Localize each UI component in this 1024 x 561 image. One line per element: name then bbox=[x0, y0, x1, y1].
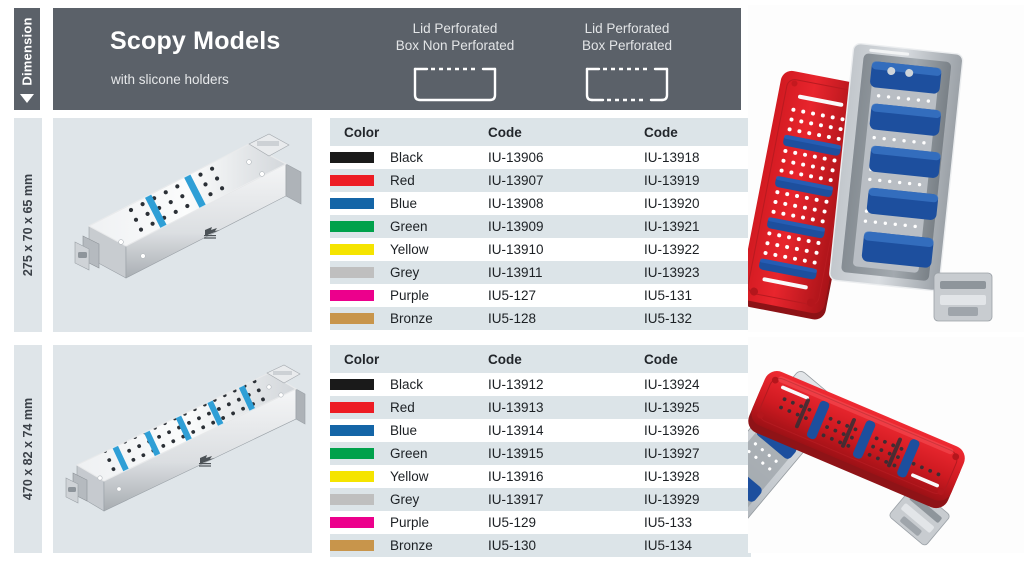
table-row[interactable]: Purple IU5-129 IU5-133 bbox=[330, 511, 751, 534]
cell-code-2: IU-13922 bbox=[644, 238, 751, 261]
table-row[interactable]: Bronze IU5-128 IU5-132 bbox=[330, 307, 751, 330]
cell-color: Bronze bbox=[330, 307, 488, 330]
cell-color: Yellow bbox=[330, 465, 488, 488]
color-swatch-black bbox=[330, 379, 374, 390]
table-row[interactable]: Blue IU-13908 IU-13920 bbox=[330, 192, 751, 215]
cell-color: Purple bbox=[330, 284, 488, 307]
color-name: Black bbox=[390, 377, 423, 392]
header-bar: Scopy Models with slicone holders Lid Pe… bbox=[53, 8, 741, 110]
table-row[interactable]: Green IU-13915 IU-13927 bbox=[330, 442, 751, 465]
color-swatch-bronze bbox=[330, 313, 374, 324]
color-name: Grey bbox=[390, 265, 419, 280]
table-row[interactable]: Blue IU-13914 IU-13926 bbox=[330, 419, 751, 442]
color-name: Green bbox=[390, 446, 428, 461]
scopy-large-container-illustration bbox=[53, 345, 312, 553]
header-column-2-line-2: Box Perforated bbox=[547, 37, 707, 54]
triangle-down-icon bbox=[20, 94, 34, 103]
color-name: Bronze bbox=[390, 538, 433, 553]
cell-code-1: IU-13911 bbox=[488, 261, 644, 284]
product-photo-right-top bbox=[748, 5, 1024, 332]
cell-code-2: IU-13925 bbox=[644, 396, 751, 419]
color-name: Grey bbox=[390, 492, 419, 507]
color-name: Blue bbox=[390, 196, 417, 211]
cell-code-2: IU-13919 bbox=[644, 169, 751, 192]
dimension-label-row-2-text: 470 x 82 x 74 mm bbox=[21, 398, 35, 500]
cell-color: Yellow bbox=[330, 238, 488, 261]
cell-code-1: IU5-130 bbox=[488, 534, 644, 557]
color-swatch-green bbox=[330, 221, 374, 232]
cell-code-1: IU-13907 bbox=[488, 169, 644, 192]
cell-code-2: IU-13918 bbox=[644, 146, 751, 169]
color-swatch-bronze bbox=[330, 540, 374, 551]
color-name: Yellow bbox=[390, 242, 429, 257]
red-lid-on-container-illustration bbox=[748, 337, 1024, 553]
color-name: Green bbox=[390, 219, 428, 234]
red-lid-and-grey-box-illustration bbox=[748, 5, 1024, 332]
dimension-tab[interactable]: Dimension bbox=[14, 8, 40, 110]
header-column-1-line-2: Box Non Perforated bbox=[375, 37, 535, 54]
table-row[interactable]: Red IU-13907 IU-13919 bbox=[330, 169, 751, 192]
color-swatch-yellow bbox=[330, 244, 374, 255]
cell-code-2: IU5-134 bbox=[644, 534, 751, 557]
header-column-lid-perforated-box-perforated: Lid Perforated Box Perforated bbox=[547, 20, 707, 103]
color-name: Blue bbox=[390, 423, 417, 438]
cell-code-2: IU5-133 bbox=[644, 511, 751, 534]
cell-code-2: IU-13920 bbox=[644, 192, 751, 215]
cell-code-2: IU-13928 bbox=[644, 465, 751, 488]
catalog-page: Dimension Scopy Models with slicone hold… bbox=[0, 0, 1024, 561]
cell-code-1: IU5-128 bbox=[488, 307, 644, 330]
color-name: Red bbox=[390, 173, 415, 188]
product-photo-row-1 bbox=[53, 118, 312, 332]
cell-code-2: IU-13926 bbox=[644, 419, 751, 442]
table-row[interactable]: Black IU-13906 IU-13918 bbox=[330, 146, 751, 169]
cell-code-2: IU-13927 bbox=[644, 442, 751, 465]
color-name: Purple bbox=[390, 515, 429, 530]
cell-code-2: IU5-131 bbox=[644, 284, 751, 307]
page-title: Scopy Models bbox=[110, 27, 281, 56]
color-name: Purple bbox=[390, 288, 429, 303]
table-row[interactable]: Red IU-13913 IU-13925 bbox=[330, 396, 751, 419]
header-column-1-line-1: Lid Perforated bbox=[375, 20, 535, 37]
cell-code-1: IU-13906 bbox=[488, 146, 644, 169]
scopy-small-container-illustration bbox=[53, 118, 312, 332]
box-lid-and-box-perforated-icon bbox=[581, 63, 673, 103]
table-header-row: Color Code Code bbox=[330, 118, 751, 146]
color-swatch-purple bbox=[330, 517, 374, 528]
table-row[interactable]: Yellow IU-13916 IU-13928 bbox=[330, 465, 751, 488]
cell-code-2: IU-13923 bbox=[644, 261, 751, 284]
cell-code-1: IU-13916 bbox=[488, 465, 644, 488]
page-subtitle: with slicone holders bbox=[111, 72, 229, 87]
dimension-label-row-2: 470 x 82 x 74 mm bbox=[14, 345, 42, 553]
code-table-row-2: Color Code Code Black IU-13912 IU-13924 bbox=[330, 345, 751, 557]
cell-color: Purple bbox=[330, 511, 488, 534]
cell-color: Green bbox=[330, 442, 488, 465]
cell-color: Black bbox=[330, 146, 488, 169]
color-swatch-yellow bbox=[330, 471, 374, 482]
cell-color: Blue bbox=[330, 192, 488, 215]
table-row[interactable]: Yellow IU-13910 IU-13922 bbox=[330, 238, 751, 261]
cell-code-1: IU-13910 bbox=[488, 238, 644, 261]
table-row[interactable]: Green IU-13909 IU-13921 bbox=[330, 215, 751, 238]
cell-color: Red bbox=[330, 169, 488, 192]
dimension-tab-label: Dimension bbox=[20, 17, 35, 85]
cell-code-1: IU-13909 bbox=[488, 215, 644, 238]
cell-color: Blue bbox=[330, 419, 488, 442]
cell-code-2: IU-13921 bbox=[644, 215, 751, 238]
color-swatch-green bbox=[330, 448, 374, 459]
color-swatch-red bbox=[330, 402, 374, 413]
color-swatch-grey bbox=[330, 267, 374, 278]
cell-code-2: IU-13929 bbox=[644, 488, 751, 511]
table-row[interactable]: Grey IU-13917 IU-13929 bbox=[330, 488, 751, 511]
table-row[interactable]: Grey IU-13911 IU-13923 bbox=[330, 261, 751, 284]
cell-color: Red bbox=[330, 396, 488, 419]
color-swatch-purple bbox=[330, 290, 374, 301]
column-header-code-1: Code bbox=[488, 345, 644, 373]
color-swatch-red bbox=[330, 175, 374, 186]
cell-code-2: IU5-132 bbox=[644, 307, 751, 330]
product-photo-row-2 bbox=[53, 345, 312, 553]
cell-color: Grey bbox=[330, 488, 488, 511]
cell-code-1: IU-13912 bbox=[488, 373, 644, 396]
cell-code-1: IU-13913 bbox=[488, 396, 644, 419]
cell-code-1: IU-13915 bbox=[488, 442, 644, 465]
cell-code-1: IU5-129 bbox=[488, 511, 644, 534]
column-header-color: Color bbox=[330, 118, 488, 146]
cell-color: Green bbox=[330, 215, 488, 238]
color-swatch-blue bbox=[330, 425, 374, 436]
column-header-code-1: Code bbox=[488, 118, 644, 146]
cell-color: Bronze bbox=[330, 534, 488, 557]
column-header-color: Color bbox=[330, 345, 488, 373]
table-row[interactable]: Bronze IU5-130 IU5-134 bbox=[330, 534, 751, 557]
cell-code-1: IU-13914 bbox=[488, 419, 644, 442]
color-name: Bronze bbox=[390, 311, 433, 326]
dimension-label-row-1-text: 275 x 70 x 65 mm bbox=[21, 174, 35, 276]
color-swatch-black bbox=[330, 152, 374, 163]
header-column-lid-perforated-box-non-perforated: Lid Perforated Box Non Perforated bbox=[375, 20, 535, 103]
cell-code-1: IU-13908 bbox=[488, 192, 644, 215]
cell-color: Black bbox=[330, 373, 488, 396]
cell-code-2: IU-13924 bbox=[644, 373, 751, 396]
color-name: Yellow bbox=[390, 469, 429, 484]
cell-color: Grey bbox=[330, 261, 488, 284]
code-table-row-1: Color Code Code Black IU-13906 IU-13918 bbox=[330, 118, 751, 330]
product-photo-right-bottom bbox=[748, 337, 1024, 553]
table-header-row: Color Code Code bbox=[330, 345, 751, 373]
color-name: Black bbox=[390, 150, 423, 165]
box-lid-perforated-icon bbox=[409, 63, 501, 103]
header-column-2-line-1: Lid Perforated bbox=[547, 20, 707, 37]
table-row[interactable]: Purple IU5-127 IU5-131 bbox=[330, 284, 751, 307]
table-row[interactable]: Black IU-13912 IU-13924 bbox=[330, 373, 751, 396]
cell-code-1: IU5-127 bbox=[488, 284, 644, 307]
dimension-label-row-1: 275 x 70 x 65 mm bbox=[14, 118, 42, 332]
column-header-code-2: Code bbox=[644, 345, 751, 373]
cell-code-1: IU-13917 bbox=[488, 488, 644, 511]
color-swatch-grey bbox=[330, 494, 374, 505]
column-header-code-2: Code bbox=[644, 118, 751, 146]
color-swatch-blue bbox=[330, 198, 374, 209]
color-name: Red bbox=[390, 400, 415, 415]
